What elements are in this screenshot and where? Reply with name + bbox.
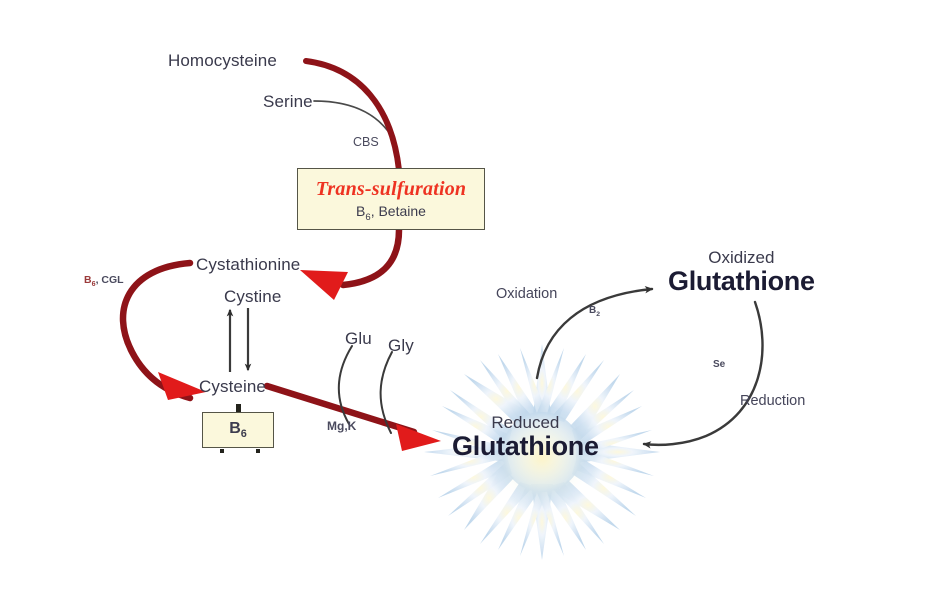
label-se-cofactor: Se [713,360,725,371]
cystine-cysteine-interconversion-arrows [230,308,248,372]
oxidized-glutathione-node: Oxidized Glutathione [668,248,815,297]
label-cystine: Cystine [224,288,281,306]
label-oxidation-process: Oxidation [496,287,557,302]
diagram-canvas: Homocysteine Serine Cystathionine Cystin… [0,0,930,596]
label-gly: Gly [388,337,414,355]
homocysteine-to-transsulfuration-arrow [306,61,399,170]
reduced-glutathione-title: Glutathione [452,431,599,462]
oxidized-glutathione-qualifier: Oxidized [668,248,815,268]
label-cystathionine: Cystathionine [196,256,300,274]
reduction-arrow [644,302,763,445]
pathway-graphics [0,0,930,596]
label-serine: Serine [263,93,313,111]
label-cysteine: Cysteine [199,378,266,396]
cystathionine-to-cysteine-arrow [123,263,206,400]
label-homocysteine: Homocysteine [168,52,277,70]
label-b6-cgl-enzyme: B6, CGL [84,275,124,289]
b6-box-handle-top [236,404,241,412]
trans-sulfuration-title: Trans-sulfuration [298,178,484,200]
b6-box-handle-bottom-right [256,449,260,453]
label-mgk-cofactor: Mg,K [327,420,356,433]
label-glu: Glu [345,330,372,348]
label-b2-cofactor: B2 [589,306,600,318]
b6-box-label: B6 [229,420,247,440]
trans-sulfuration-subtitle: B6, Betaine [298,203,484,223]
oxidized-glutathione-title: Glutathione [668,266,815,297]
label-cbs-enzyme: CBS [353,136,379,149]
b6-box-handle-bottom-left [220,449,224,453]
trans-sulfuration-box: Trans-sulfuration B6, Betaine [297,168,485,230]
reduced-glutathione-node: Reduced Glutathione [452,413,599,462]
reduced-glutathione-qualifier: Reduced [452,413,599,433]
b6-box: B6 [202,412,274,448]
transsulfuration-to-cystathionine-arrow [300,230,399,300]
oxidation-arrow [537,289,652,378]
label-reduction-process: Reduction [740,394,805,409]
